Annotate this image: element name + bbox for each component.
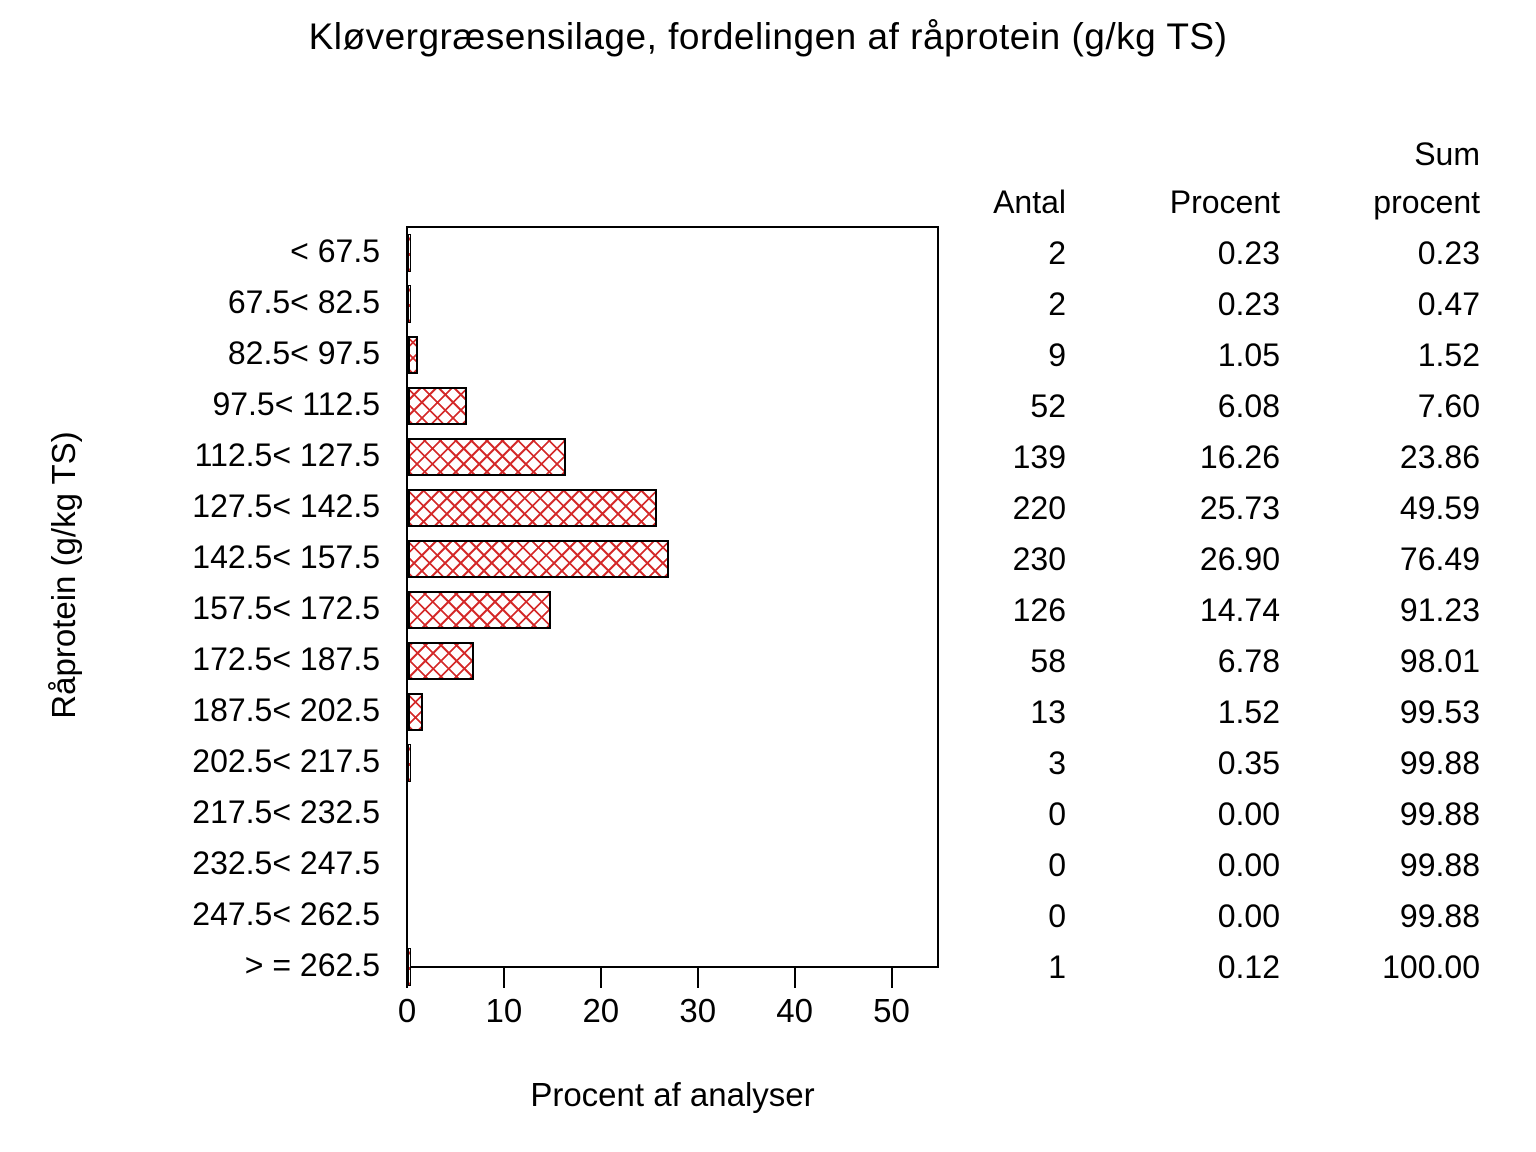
column-header-sum-line2: procent (1373, 180, 1480, 224)
stats-table: Antal Procent Sum procent 20.230.2320.23… (960, 132, 1480, 993)
y-axis-tick-label: 217.5< 232.5 (0, 787, 392, 838)
y-axis-tick-label: 142.5< 157.5 (0, 532, 392, 583)
cell-antal: 13 (1030, 687, 1066, 738)
cell-procent: 0.23 (1218, 279, 1280, 330)
bar-row (408, 636, 937, 687)
bar (408, 591, 551, 629)
table-row: 12614.7491.23 (960, 585, 1480, 636)
bar-row (408, 789, 937, 840)
x-axis-tick (503, 968, 505, 988)
table-row: 22025.7349.59 (960, 483, 1480, 534)
bar-row (408, 687, 937, 738)
table-row: 586.7898.01 (960, 636, 1480, 687)
cell-procent: 0.00 (1218, 891, 1280, 942)
cell-procent: 0.00 (1218, 840, 1280, 891)
bar (408, 693, 423, 731)
cell-sum-procent: 0.23 (1418, 228, 1480, 279)
cell-antal: 52 (1030, 381, 1066, 432)
y-axis-tick-label: 82.5< 97.5 (0, 328, 392, 379)
y-axis-tick-label: < 67.5 (0, 226, 392, 277)
table-row: 20.230.47 (960, 279, 1480, 330)
cell-antal: 2 (1048, 228, 1066, 279)
cell-sum-procent: 99.53 (1400, 687, 1480, 738)
cell-sum-procent: 99.88 (1400, 738, 1480, 789)
table-row: 20.230.23 (960, 228, 1480, 279)
cell-sum-procent: 100.00 (1382, 942, 1480, 993)
table-row: 10.12100.00 (960, 942, 1480, 993)
bar-row (408, 891, 937, 942)
table-row: 00.0099.88 (960, 840, 1480, 891)
cell-sum-procent: 99.88 (1400, 891, 1480, 942)
y-axis-tick-label: 247.5< 262.5 (0, 889, 392, 940)
x-axis-tick-label: 40 (776, 992, 813, 1030)
bar-row (408, 534, 937, 585)
y-axis-tick-label: 202.5< 217.5 (0, 736, 392, 787)
x-axis-tick-label: 20 (582, 992, 619, 1030)
y-axis-tick-label: 97.5< 112.5 (0, 379, 392, 430)
y-axis-tick-label: > = 262.5 (0, 940, 392, 991)
table-row: 23026.9076.49 (960, 534, 1480, 585)
chart-page: Kløvergræsensilage, fordelingen af råpro… (0, 0, 1536, 1152)
cell-antal: 0 (1048, 891, 1066, 942)
y-axis-tick-label: 232.5< 247.5 (0, 838, 392, 889)
x-axis-tick-label: 30 (679, 992, 716, 1030)
cell-sum-procent: 98.01 (1400, 636, 1480, 687)
column-header-sum-line1: Sum (1414, 132, 1480, 176)
y-axis-tick-label: 187.5< 202.5 (0, 685, 392, 736)
cell-procent: 0.35 (1218, 738, 1280, 789)
cell-antal: 0 (1048, 840, 1066, 891)
cell-procent: 1.52 (1218, 687, 1280, 738)
x-axis-tick (794, 968, 796, 988)
bar-row (408, 738, 937, 789)
bar (408, 336, 418, 374)
bar-row (408, 279, 937, 330)
x-axis-tick (600, 968, 602, 988)
cell-procent: 16.26 (1200, 432, 1280, 483)
table-row: 00.0099.88 (960, 891, 1480, 942)
bar (408, 642, 474, 680)
x-axis-tick-label: 50 (873, 992, 910, 1030)
x-axis-tick (406, 968, 408, 988)
plot-area (406, 226, 939, 968)
cell-antal: 0 (1048, 789, 1066, 840)
cell-procent: 0.00 (1218, 789, 1280, 840)
bar-row (408, 840, 937, 891)
bar (408, 387, 467, 425)
cell-procent: 6.78 (1218, 636, 1280, 687)
bar-row (408, 585, 937, 636)
cell-antal: 2 (1048, 279, 1066, 330)
column-header-procent: Procent (1170, 180, 1280, 224)
table-row: 13916.2623.86 (960, 432, 1480, 483)
cell-antal: 1 (1048, 942, 1066, 993)
y-axis-tick-label: 112.5< 127.5 (0, 430, 392, 481)
y-axis-tick-label: 157.5< 172.5 (0, 583, 392, 634)
bar-row (408, 483, 937, 534)
x-axis: 01020304050 (406, 968, 939, 1038)
bar (408, 489, 657, 527)
cell-antal: 220 (1013, 483, 1066, 534)
cell-procent: 6.08 (1218, 381, 1280, 432)
y-axis-tick-labels: < 67.567.5< 82.582.5< 97.597.5< 112.5112… (0, 226, 392, 968)
cell-sum-procent: 7.60 (1418, 381, 1480, 432)
cell-antal: 9 (1048, 330, 1066, 381)
table-row: 91.051.52 (960, 330, 1480, 381)
cell-procent: 0.12 (1218, 942, 1280, 993)
cell-sum-procent: 23.86 (1400, 432, 1480, 483)
cell-sum-procent: 99.88 (1400, 789, 1480, 840)
y-axis-tick-label: 172.5< 187.5 (0, 634, 392, 685)
cell-sum-procent: 49.59 (1400, 483, 1480, 534)
cell-antal: 139 (1013, 432, 1066, 483)
bar-row (408, 330, 937, 381)
table-row: 526.087.60 (960, 381, 1480, 432)
x-axis-tick (891, 968, 893, 988)
cell-antal: 126 (1013, 585, 1066, 636)
bar (408, 285, 411, 323)
table-row: 30.3599.88 (960, 738, 1480, 789)
cell-sum-procent: 91.23 (1400, 585, 1480, 636)
x-axis-title: Procent af analyser (406, 1076, 939, 1114)
cell-sum-procent: 76.49 (1400, 534, 1480, 585)
cell-procent: 26.90 (1200, 534, 1280, 585)
cell-antal: 58 (1030, 636, 1066, 687)
cell-sum-procent: 1.52 (1418, 330, 1480, 381)
table-row: 131.5299.53 (960, 687, 1480, 738)
x-axis-tick-label: 10 (486, 992, 523, 1030)
y-axis-tick-label: 67.5< 82.5 (0, 277, 392, 328)
page-title: Kløvergræsensilage, fordelingen af råpro… (0, 16, 1536, 58)
bar (408, 438, 566, 476)
table-header-row: Antal Procent Sum procent (960, 132, 1480, 228)
cell-sum-procent: 0.47 (1418, 279, 1480, 330)
bar (408, 234, 411, 272)
x-axis-tick (697, 968, 699, 988)
cell-procent: 1.05 (1218, 330, 1280, 381)
y-axis-tick-label: 127.5< 142.5 (0, 481, 392, 532)
column-header-antal: Antal (993, 180, 1066, 224)
cell-antal: 3 (1048, 738, 1066, 789)
cell-sum-procent: 99.88 (1400, 840, 1480, 891)
bar-row (408, 432, 937, 483)
cell-procent: 0.23 (1218, 228, 1280, 279)
table-body: 20.230.2320.230.4791.051.52526.087.60139… (960, 228, 1480, 993)
x-axis-tick-label: 0 (398, 992, 416, 1030)
cell-procent: 14.74 (1200, 585, 1280, 636)
table-row: 00.0099.88 (960, 789, 1480, 840)
cell-procent: 25.73 (1200, 483, 1280, 534)
cell-antal: 230 (1013, 534, 1066, 585)
bar-row (408, 228, 937, 279)
bar-row (408, 381, 937, 432)
bar (408, 744, 411, 782)
bar (408, 540, 669, 578)
